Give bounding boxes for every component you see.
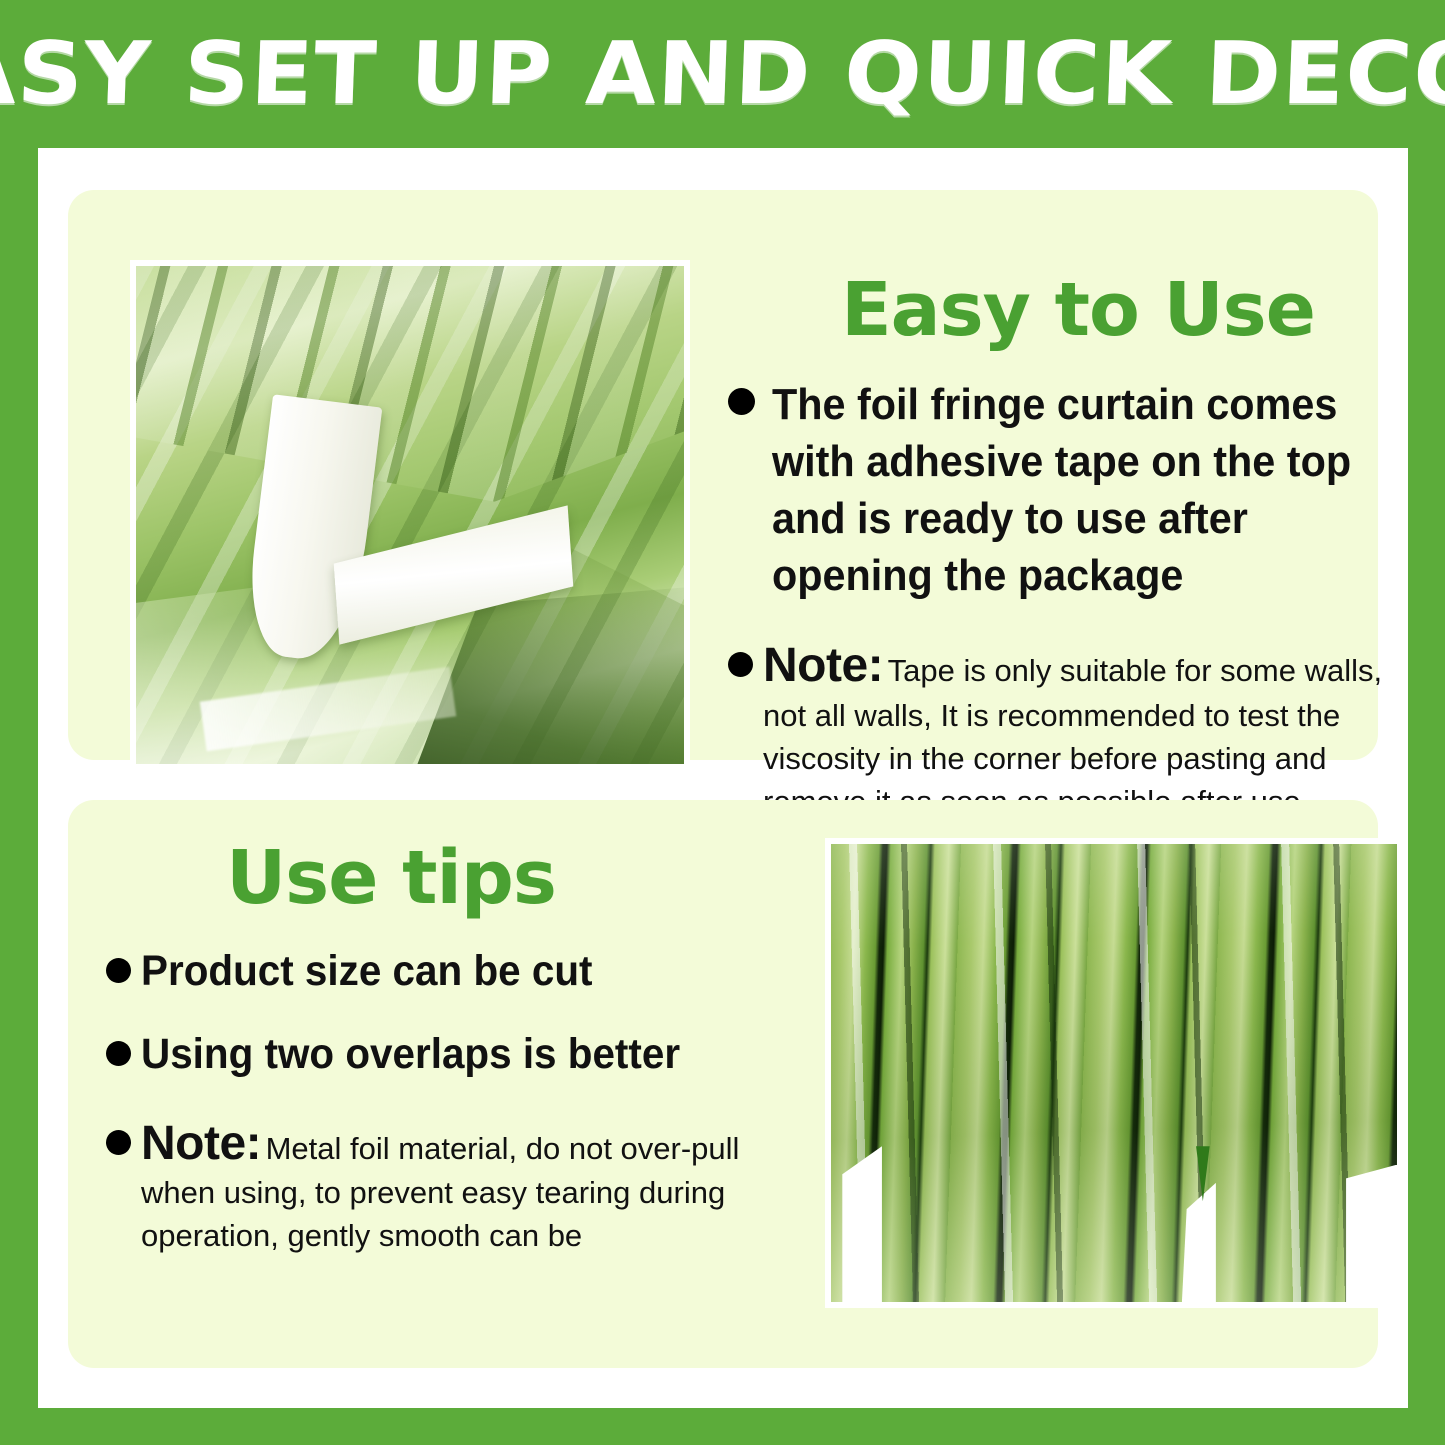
header-band: EASY SET UP AND QUICK DECOR xyxy=(0,0,1445,148)
heading-use-tips: Use tips xyxy=(106,840,796,918)
bullet-text: The foil fringe curtain comes with adhes… xyxy=(772,376,1389,605)
foil-tape-photo-canvas xyxy=(136,266,684,764)
bullet-dot-icon xyxy=(106,1041,131,1066)
bullet-dot-icon xyxy=(106,958,131,983)
page-title: EASY SET UP AND QUICK DECOR xyxy=(0,31,1445,117)
bullet-item: The foil fringe curtain comes with adhes… xyxy=(728,376,1428,605)
fringe-photo-canvas xyxy=(831,844,1397,1302)
green-fringe-curtain-photo xyxy=(825,838,1403,1308)
poster-root: EASY SET UP AND QUICK DECOR Easy to Use xyxy=(0,0,1445,1445)
note-body: Note: Metal foil material, do not over-p… xyxy=(141,1116,796,1258)
bullet-text: Using two overlaps is better xyxy=(141,1027,680,1082)
fringe-gap-right xyxy=(1346,1165,1397,1302)
bullet-dot-icon xyxy=(728,388,755,415)
card-easy-to-use: Easy to Use The foil fringe curtain come… xyxy=(68,190,1378,760)
use-tips-text-block: Use tips Product size can be cut Using t… xyxy=(106,840,796,1258)
note-label: Note: xyxy=(141,1117,261,1170)
bullet-item: Using two overlaps is better xyxy=(106,1027,796,1082)
note-label: Note: xyxy=(763,639,883,692)
easy-to-use-text-block: Easy to Use The foil fringe curtain come… xyxy=(728,272,1428,823)
bullet-dot-icon xyxy=(106,1130,131,1155)
bullet-dot-icon xyxy=(728,652,753,677)
fringe-sheen-layer xyxy=(831,844,1397,1302)
note-item: Note: Metal foil material, do not over-p… xyxy=(106,1116,796,1258)
bullet-text: Product size can be cut xyxy=(141,944,592,999)
card-use-tips: Use tips Product size can be cut Using t… xyxy=(68,800,1378,1368)
page-body: Easy to Use The foil fringe curtain come… xyxy=(38,148,1408,1408)
foil-tape-closeup-photo xyxy=(130,260,690,770)
heading-easy-to-use: Easy to Use xyxy=(728,272,1428,350)
note-body: Note: Tape is only suitable for some wal… xyxy=(763,638,1428,823)
bullet-item: Product size can be cut xyxy=(106,944,796,999)
note-item: Note: Tape is only suitable for some wal… xyxy=(728,638,1428,823)
